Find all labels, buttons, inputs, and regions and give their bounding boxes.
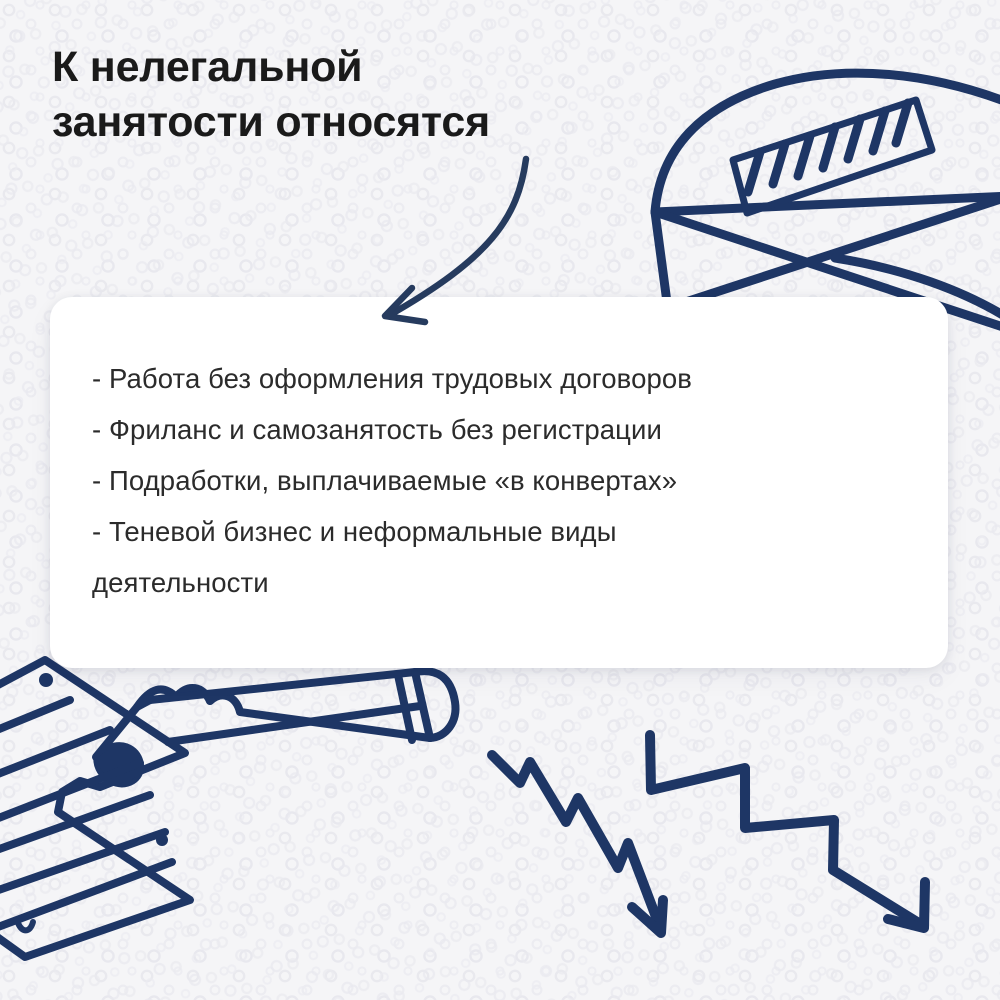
illegal-employment-list: - Работа без оформления трудовых договор… [92,353,922,608]
list-item: - Подработки, выплачиваемые «в конвертах… [92,455,922,506]
list-item: - Фриланс и самозанятость без регистраци… [92,404,922,455]
list-item: - Теневой бизнес и неформальные виды дея… [92,506,922,608]
page-title: К нелегальной занятости относятся [52,40,490,150]
infographic-poster: К нелегальной занятости относятся - Рабо… [0,0,1000,1000]
list-item: - Работа без оформления трудовых договор… [92,353,922,404]
content-card: - Работа без оформления трудовых договор… [50,297,948,668]
